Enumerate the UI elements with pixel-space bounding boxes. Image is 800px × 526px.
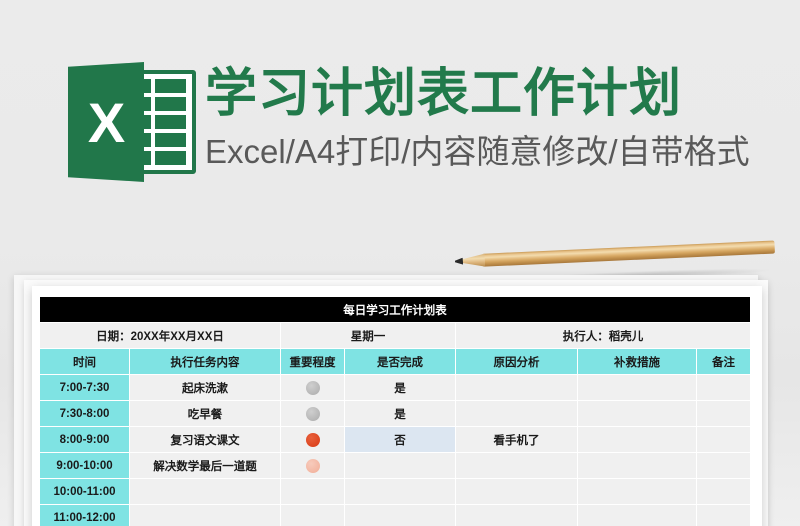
cell-time[interactable]: 9:00-10:00 — [40, 453, 130, 479]
column-header-note: 备注 — [697, 349, 751, 375]
info-weekday[interactable]: 星期一 — [281, 323, 456, 349]
priority-dot-icon — [306, 381, 320, 395]
cell-reason[interactable] — [456, 401, 578, 427]
table-info-row: 日期：20XX年XX月XX日 星期一 执行人：稻壳儿 — [40, 323, 751, 349]
cell-priority[interactable] — [281, 427, 345, 453]
cell-note[interactable] — [697, 375, 751, 401]
column-header-priority: 重要程度 — [281, 349, 345, 375]
cell-time[interactable]: 7:30-8:00 — [40, 401, 130, 427]
info-date[interactable]: 日期：20XX年XX月XX日 — [40, 323, 281, 349]
cell-reason[interactable]: 看手机了 — [456, 427, 578, 453]
cell-time[interactable]: 11:00-12:00 — [40, 505, 130, 526]
table-row: 11:00-12:00 — [40, 505, 751, 526]
cell-task[interactable]: 起床洗漱 — [130, 375, 281, 401]
info-owner[interactable]: 执行人：稻壳儿 — [456, 323, 751, 349]
product-banner: X 学习计划表工作计划 Excel/A4打印/内容随意修改/自带格式 — [0, 0, 800, 215]
cell-done[interactable] — [345, 453, 456, 479]
daily-plan-table: 每日学习工作计划表 日期：20XX年XX月XX日 星期一 执行人：稻壳儿 时间 … — [39, 296, 751, 526]
cell-remedy[interactable] — [578, 375, 697, 401]
column-header-reason: 原因分析 — [456, 349, 578, 375]
priority-dot-icon — [306, 433, 320, 447]
table-header-row: 时间 执行任务内容 重要程度 是否完成 原因分析 补救措施 备注 — [40, 349, 751, 375]
cell-done[interactable]: 是 — [345, 401, 456, 427]
pencil-tip — [455, 258, 463, 265]
excel-logo-icon: X — [68, 62, 196, 182]
cell-reason[interactable] — [456, 479, 578, 505]
cell-task[interactable] — [130, 505, 281, 526]
pencil-icon — [455, 238, 775, 270]
cell-note[interactable] — [697, 453, 751, 479]
table-row: 10:00-11:00 — [40, 479, 751, 505]
table-row: 7:30-8:00 吃早餐 是 — [40, 401, 751, 427]
cell-reason[interactable] — [456, 453, 578, 479]
table-row: 7:00-7:30 起床洗漱 是 — [40, 375, 751, 401]
table-row: 9:00-10:00 解决数学最后一道题 — [40, 453, 751, 479]
cell-priority[interactable] — [281, 479, 345, 505]
table-title: 每日学习工作计划表 — [40, 297, 751, 323]
cell-note[interactable] — [697, 505, 751, 526]
pencil-cone — [461, 254, 486, 268]
cell-reason[interactable] — [456, 505, 578, 526]
column-header-done: 是否完成 — [345, 349, 456, 375]
column-header-task: 执行任务内容 — [130, 349, 281, 375]
column-header-remedy: 补救措施 — [578, 349, 697, 375]
cell-remedy[interactable] — [578, 479, 697, 505]
cell-priority[interactable] — [281, 375, 345, 401]
cell-note[interactable] — [697, 427, 751, 453]
screenshot-canvas: X 学习计划表工作计划 Excel/A4打印/内容随意修改/自带格式 — [0, 0, 800, 526]
cell-note[interactable] — [697, 479, 751, 505]
cell-done[interactable] — [345, 505, 456, 526]
cell-priority[interactable] — [281, 453, 345, 479]
cell-time[interactable]: 7:00-7:30 — [40, 375, 130, 401]
cell-priority[interactable] — [281, 505, 345, 526]
table-title-row: 每日学习工作计划表 — [40, 297, 751, 323]
pencil-body — [483, 240, 775, 266]
priority-dot-icon — [306, 485, 320, 499]
cell-time[interactable]: 8:00-9:00 — [40, 427, 130, 453]
cell-note[interactable] — [697, 401, 751, 427]
table-body: 每日学习工作计划表 日期：20XX年XX月XX日 星期一 执行人：稻壳儿 时间 … — [40, 297, 751, 526]
cell-done[interactable] — [345, 479, 456, 505]
cell-task[interactable]: 解决数学最后一道题 — [130, 453, 281, 479]
priority-dot-icon — [306, 459, 320, 473]
cell-done[interactable]: 是 — [345, 375, 456, 401]
priority-dot-icon — [306, 511, 320, 525]
banner-subtitle: Excel/A4打印/内容随意修改/自带格式 — [205, 131, 750, 173]
cell-remedy[interactable] — [578, 401, 697, 427]
cell-priority[interactable] — [281, 401, 345, 427]
banner-title: 学习计划表工作计划 — [205, 63, 682, 125]
column-header-time: 时间 — [40, 349, 130, 375]
cell-remedy[interactable] — [578, 427, 697, 453]
cell-task[interactable]: 复习语文课文 — [130, 427, 281, 453]
cell-task[interactable]: 吃早餐 — [130, 401, 281, 427]
cell-task[interactable] — [130, 479, 281, 505]
cell-done[interactable]: 否 — [345, 427, 456, 453]
cell-remedy[interactable] — [578, 453, 697, 479]
table-row: 8:00-9:00 复习语文课文 否 看手机了 — [40, 427, 751, 453]
logo-letter: X — [68, 62, 144, 182]
priority-dot-icon — [306, 407, 320, 421]
cell-reason[interactable] — [456, 375, 578, 401]
cell-remedy[interactable] — [578, 505, 697, 526]
paper-sheet-front: 每日学习工作计划表 日期：20XX年XX月XX日 星期一 执行人：稻壳儿 时间 … — [32, 286, 762, 526]
cell-time[interactable]: 10:00-11:00 — [40, 479, 130, 505]
